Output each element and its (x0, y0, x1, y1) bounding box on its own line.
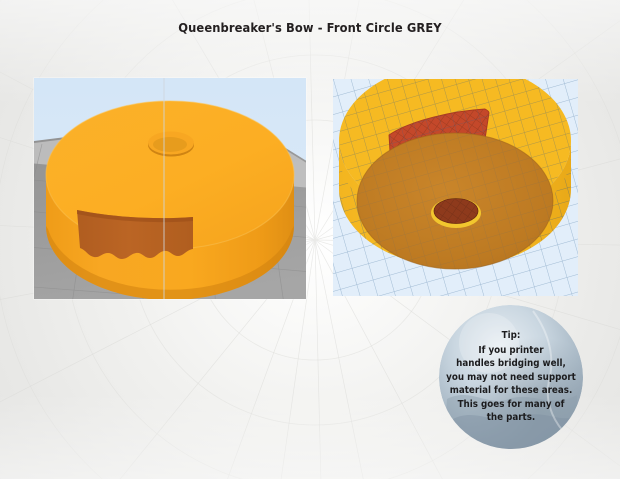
tip-line-0: Tip: (502, 329, 521, 343)
center-hole (148, 132, 194, 157)
page-root: Queenbreaker's Bow - Front Circle GREY (0, 0, 620, 479)
page-title: Queenbreaker's Bow - Front Circle GREY (25, 20, 595, 35)
disc-model (46, 101, 294, 299)
tip-line-3: you may not need support (446, 371, 576, 385)
support-view-render-panel (333, 79, 578, 296)
tip-line-5: This goes for many of (458, 398, 565, 412)
tip-line-1: If you printer (478, 344, 543, 358)
tip-callout: Tip: If you printer handles bridging wel… (441, 303, 580, 451)
perspective-render-panel (34, 78, 306, 299)
tip-line-6: the parts. (487, 411, 536, 425)
tip-line-4: material for these areas. (450, 384, 573, 398)
tip-line-2: handles bridging well, (456, 357, 566, 371)
center-support-hole (431, 198, 481, 228)
